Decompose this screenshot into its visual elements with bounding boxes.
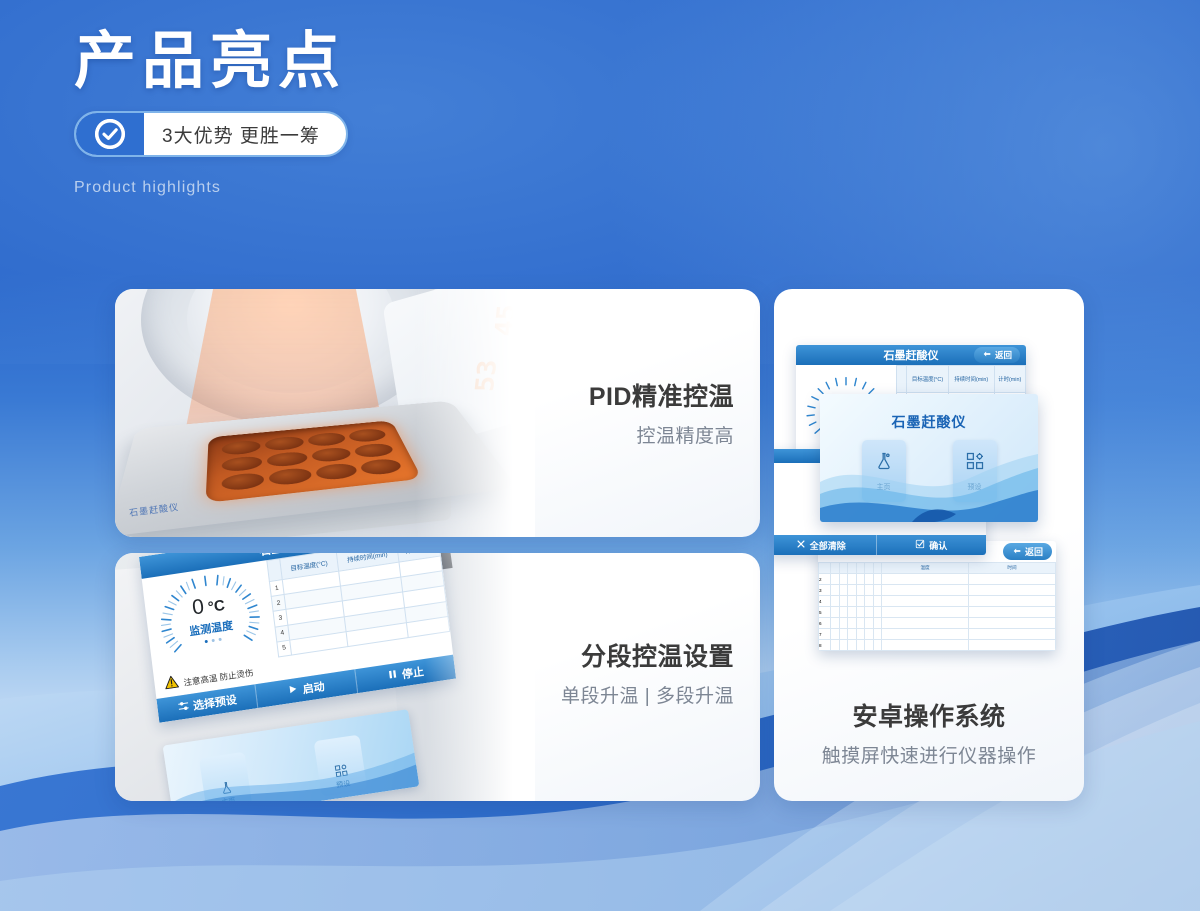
c[interactable]: [848, 618, 857, 629]
row-index: 7: [819, 629, 831, 640]
col-b: [839, 563, 848, 574]
table-header-row: 目标温度(°C) 持续时间(min) 计时(min): [897, 366, 1026, 393]
c[interactable]: [839, 607, 848, 618]
subtitle-english: Product highlights: [74, 179, 348, 197]
highlights-badge: 3大优势 更胜一筹: [74, 111, 348, 157]
c[interactable]: [969, 618, 1056, 629]
row-index: 2: [819, 574, 831, 585]
c[interactable]: [856, 618, 865, 629]
card-android-os[interactable]: 石墨赶酸仪 返回: [774, 289, 1084, 801]
check-circle-icon: [95, 119, 125, 149]
c[interactable]: [856, 596, 865, 607]
stop-label: 停止: [401, 663, 425, 682]
col-c: [848, 563, 857, 574]
card-segment-title: 分段控温设置: [474, 637, 734, 673]
c[interactable]: [839, 596, 848, 607]
c[interactable]: [873, 574, 882, 585]
c[interactable]: [839, 585, 848, 596]
c[interactable]: [865, 640, 874, 651]
confirm-button[interactable]: 确认: [877, 535, 987, 555]
c[interactable]: [848, 596, 857, 607]
c[interactable]: [831, 574, 840, 585]
c[interactable]: [969, 596, 1056, 607]
c[interactable]: [882, 607, 969, 618]
c[interactable]: [856, 607, 865, 618]
col-a: [831, 563, 840, 574]
c[interactable]: [839, 618, 848, 629]
c[interactable]: [831, 640, 840, 651]
table-row: 3: [819, 585, 1056, 596]
col-d: [856, 563, 865, 574]
c[interactable]: [969, 629, 1056, 640]
c[interactable]: [969, 585, 1056, 596]
graphite-heating-block-photo: 45 53 石墨赶酸仪: [115, 289, 535, 537]
table-header-time: 时间: [969, 563, 1056, 574]
c[interactable]: [873, 596, 882, 607]
dialog-tiles: 主页 预设: [820, 440, 1038, 502]
screen-header: 石墨赶酸仪 返回: [796, 345, 1026, 365]
measurement-table[interactable]: 温度 时间 2 3 4 5 6 7 8: [818, 562, 1056, 651]
card-segmented-temperature[interactable]: 主页 预设: [115, 553, 760, 801]
c[interactable]: [873, 618, 882, 629]
table-corner-cell: [897, 366, 907, 393]
row-index: 3: [819, 585, 831, 596]
preset-screen-footer: 全部清除 确认: [774, 535, 986, 555]
c[interactable]: [856, 574, 865, 585]
card-pid-temperature-control[interactable]: 45 53 石墨赶酸仪 PID精准控温 控温精度高: [115, 289, 760, 537]
table-header-row: 温度 时间: [819, 563, 1056, 574]
table-header-timer: 计时(min): [994, 366, 1025, 393]
c[interactable]: [856, 629, 865, 640]
c[interactable]: [856, 585, 865, 596]
c[interactable]: [873, 585, 882, 596]
page-title: 产品亮点: [74, 26, 348, 95]
card-pid-title: PID精准控温: [494, 377, 734, 413]
header-block: 产品亮点 3大优势 更胜一筹 Product highlights: [74, 26, 348, 197]
card-android-text: 安卓操作系统 触摸屏快速进行仪器操作: [774, 697, 1084, 768]
col-e: [865, 563, 874, 574]
table-header-target-temp: 目标温度(°C): [907, 366, 949, 393]
close-x-icon: [796, 539, 806, 551]
c[interactable]: [831, 585, 840, 596]
c[interactable]: [882, 585, 969, 596]
c[interactable]: [865, 618, 874, 629]
badge-icon-area: [76, 113, 144, 155]
c[interactable]: [831, 596, 840, 607]
c[interactable]: [839, 629, 848, 640]
c[interactable]: [848, 585, 857, 596]
c[interactable]: [865, 629, 874, 640]
dialog-title: 石墨赶酸仪: [820, 412, 1038, 432]
c[interactable]: [848, 574, 857, 585]
c[interactable]: [831, 607, 840, 618]
dialog-tile-home-label: 主页: [877, 482, 891, 492]
back-button[interactable]: 返回: [974, 347, 1020, 363]
c[interactable]: [873, 640, 882, 651]
select-preset-label: 选择预设: [192, 691, 237, 713]
pause-icon: [386, 668, 399, 684]
col-f: [873, 563, 882, 574]
table-row: 5: [819, 607, 1056, 618]
dialog-tile-home[interactable]: 主页: [862, 440, 906, 502]
c[interactable]: [882, 596, 969, 607]
c[interactable]: [831, 618, 840, 629]
table-row: 4: [819, 596, 1056, 607]
c[interactable]: [969, 607, 1056, 618]
table-row: 6: [819, 618, 1056, 629]
table-corner-cell: [819, 563, 831, 574]
c[interactable]: [848, 629, 857, 640]
c[interactable]: [882, 618, 969, 629]
dialog-tile-preset-label: 预设: [968, 482, 982, 492]
c[interactable]: [969, 640, 1056, 651]
preset-dialog[interactable]: 石墨赶酸仪 主页: [820, 394, 1038, 522]
card-segment-subtitle: 单段升温 | 多段升温: [474, 681, 734, 708]
start-label: 启动: [302, 678, 326, 697]
table-row: 8: [819, 640, 1056, 651]
back-button[interactable]: 返回: [1003, 543, 1052, 560]
sample-well-array: [206, 420, 423, 503]
c[interactable]: [873, 607, 882, 618]
screen-app-title: 石墨赶酸仪: [884, 347, 939, 363]
c[interactable]: [882, 574, 969, 585]
badge-label: 3大优势 更胜一筹: [144, 113, 346, 155]
table-header-duration: 持续时间(min): [949, 366, 995, 393]
flask-icon: [874, 451, 894, 476]
dialog-tile-preset[interactable]: 预设: [953, 440, 997, 502]
sliders-icon: [176, 699, 190, 716]
back-button-label: 返回: [995, 349, 1012, 361]
back-arrow-icon: [1012, 546, 1022, 558]
c[interactable]: [839, 640, 848, 651]
row-index: 4: [819, 596, 831, 607]
c[interactable]: [969, 574, 1056, 585]
card-android-subtitle: 触摸屏快速进行仪器操作: [774, 741, 1084, 768]
c[interactable]: [865, 607, 874, 618]
c[interactable]: [856, 640, 865, 651]
c[interactable]: [882, 629, 969, 640]
row-index: 5: [819, 607, 831, 618]
clear-all-label: 全部清除: [810, 539, 846, 552]
screen-stack: 石墨赶酸仪 返回: [774, 289, 1084, 689]
c[interactable]: [873, 629, 882, 640]
card-segment-text: 分段控温设置 单段升温 | 多段升温: [474, 637, 734, 708]
c[interactable]: [839, 574, 848, 585]
device-screen-list[interactable]: 返回 温度 时间 2 3 4 5 6: [818, 541, 1056, 651]
checkbox-checked-icon: [915, 539, 925, 551]
table-row: 2: [819, 574, 1056, 585]
table-row: 7: [819, 629, 1056, 640]
c[interactable]: [865, 585, 874, 596]
temperature-gauge: 0 °C 监测温度: [142, 560, 279, 676]
confirm-label: 确认: [929, 539, 947, 552]
c[interactable]: [882, 640, 969, 651]
play-icon: [287, 683, 300, 699]
back-button-label: 返回: [1025, 545, 1043, 558]
card-android-title: 安卓操作系统: [774, 697, 1084, 733]
instrument-screen-photo: 主页 预设: [115, 553, 535, 801]
row-index: 8: [819, 640, 831, 651]
grid-gear-icon: [965, 451, 985, 476]
c[interactable]: [848, 607, 857, 618]
c[interactable]: [865, 574, 874, 585]
c[interactable]: [831, 629, 840, 640]
c[interactable]: [865, 596, 874, 607]
table-header-temp: 温度: [882, 563, 969, 574]
gauge-ticks: [142, 560, 279, 676]
warning-triangle-icon: [164, 675, 180, 695]
clear-all-button[interactable]: 全部清除: [774, 535, 877, 555]
row-index: 6: [819, 618, 831, 629]
card-pid-text: PID精准控温 控温精度高: [494, 377, 734, 448]
c[interactable]: [848, 640, 857, 651]
back-arrow-icon: [982, 349, 992, 361]
card-pid-subtitle: 控温精度高: [494, 421, 734, 448]
